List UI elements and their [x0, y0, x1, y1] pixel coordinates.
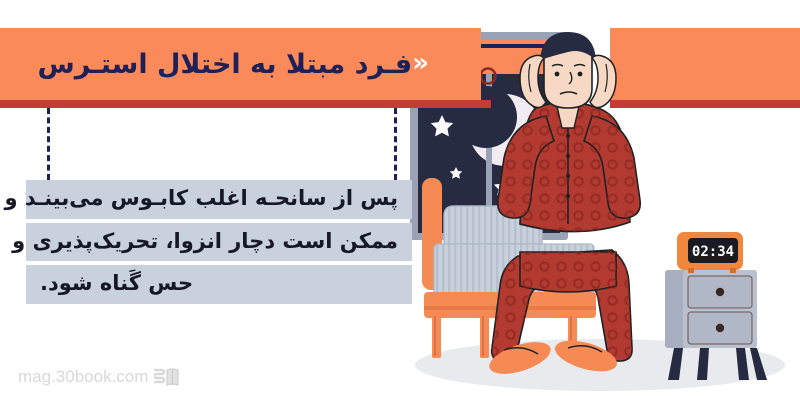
body-text-line: حس گَناه شود.	[26, 265, 412, 304]
open-book-icon	[154, 366, 180, 388]
alarm-clock-group: 02:34	[677, 232, 743, 273]
body-text-block: پس از سانحـه اغلب کابـوس می‌بینـد و ممکن…	[26, 180, 412, 308]
clock-time: 02:34	[692, 244, 734, 260]
body-text-line: پس از سانحـه اغلب کابـوس می‌بینـد و	[26, 180, 412, 219]
infographic-canvas: 02:34	[0, 0, 800, 400]
body-text-line: ممکن است دچار انزوا، تحریک‌پذیری و	[26, 223, 412, 262]
header-underbar	[0, 100, 491, 108]
site-logo-text: mag.30book.com	[18, 367, 148, 387]
site-logo[interactable]: mag.30book.com	[18, 366, 180, 388]
drawer-knob	[716, 324, 724, 332]
chevron-left-double-icon: «	[412, 50, 429, 76]
page-title: فـرد مبتلا به اختلال استـرس	[37, 51, 412, 78]
connector-dashed-line-right	[394, 108, 397, 180]
header-banner: « فـرد مبتلا به اختلال استـرس	[0, 28, 481, 100]
drawer-knob	[716, 288, 724, 296]
connector-dashed-line-left	[47, 108, 50, 180]
